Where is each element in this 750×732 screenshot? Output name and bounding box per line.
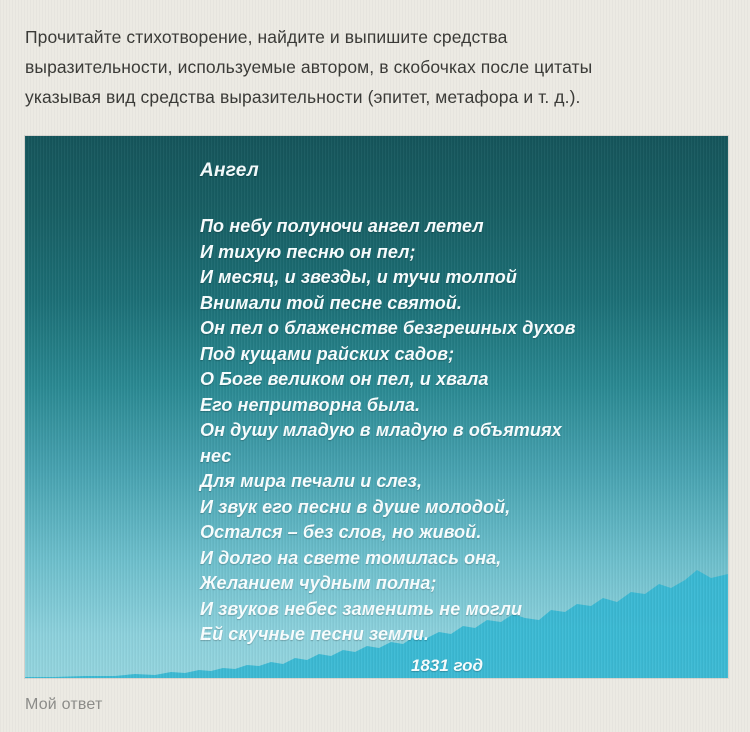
- poem-line: Он душу младую в младую в объятиях: [200, 418, 720, 444]
- question-line: выразительности, используемые автором, в…: [25, 52, 715, 82]
- poem-line: Внимали той песне святой.: [200, 291, 720, 317]
- poem-line: Желанием чудным полна;: [200, 571, 720, 597]
- poem-line: нес: [200, 444, 720, 470]
- question-line: Прочитайте стихотворение, найдите и выпи…: [25, 22, 715, 52]
- question-line: указывая вид средства выразительности (э…: [25, 82, 715, 112]
- poem-line: Остался – без слов, но живой.: [200, 520, 720, 546]
- poem-text-block: Ангел По небу полуночи ангел летел И тих…: [200, 160, 720, 676]
- poem-line: И звук его песни в душе молодой,: [200, 495, 720, 521]
- poem-line: Его непритворна была.: [200, 393, 720, 419]
- answer-placeholder[interactable]: Мой ответ: [25, 696, 715, 714]
- poem-line: И долго на свете томилась она,: [200, 546, 720, 572]
- poem-line: И звуков небес заменить не могли: [200, 597, 720, 623]
- answer-field[interactable]: Мой ответ: [25, 696, 715, 714]
- poem-line: Для мира печали и слез,: [200, 469, 720, 495]
- poem-line: И тихую песню он пел;: [200, 240, 720, 266]
- poem-year: 1831 год: [200, 656, 720, 676]
- poem-title: Ангел: [200, 160, 720, 182]
- poem-line: По небу полуночи ангел летел: [200, 214, 720, 240]
- poem-image: Ангел По небу полуночи ангел летел И тих…: [25, 136, 728, 678]
- poem-line: Под кущами райских садов;: [200, 342, 720, 368]
- poem-line: О Боге великом он пел, и хвала: [200, 367, 720, 393]
- poem-stanza: По небу полуночи ангел летел И тихую пес…: [200, 214, 720, 648]
- poem-line: Ей скучные песни земли.: [200, 622, 720, 648]
- poem-line: И месяц, и звезды, и тучи толпой: [200, 265, 720, 291]
- question-prompt: Прочитайте стихотворение, найдите и выпи…: [25, 22, 715, 112]
- poem-line: Он пел о блаженстве безгрешных духов: [200, 316, 720, 342]
